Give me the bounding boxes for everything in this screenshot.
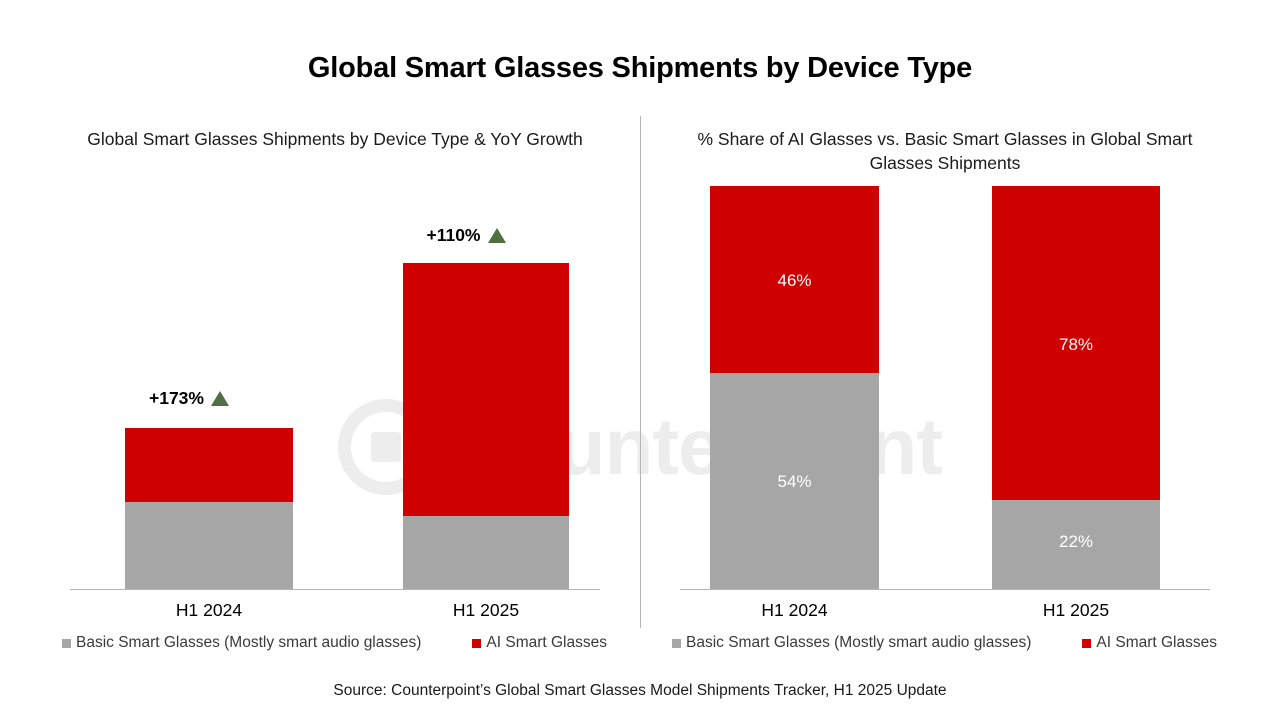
bar-segment-basic-smart-glasses[interactable] [125, 502, 293, 589]
legend-label-basic: Basic Smart Glasses (Mostly smart audio … [76, 634, 421, 652]
share-legend: Basic Smart Glasses (Mostly smart audio … [672, 634, 1217, 652]
bar-h1-2025-share[interactable]: 78% 22% [992, 186, 1160, 589]
chart-canvas: Counterpoint Global Smart Glasses Shipme… [0, 0, 1280, 720]
bar-segment-basic-smart-glasses[interactable]: 22% [992, 500, 1160, 589]
x-axis-label-h1-2025-share: H1 2025 [992, 600, 1160, 621]
bar-h1-2024-shipments[interactable] [125, 428, 293, 589]
legend-label-ai: AI Smart Glasses [1096, 634, 1217, 652]
left-panel-subtitle: Global Smart Glasses Shipments by Device… [70, 128, 600, 152]
bar-segment-ai-smart-glasses[interactable] [125, 428, 293, 502]
share-axis-line [680, 589, 1210, 590]
legend-item-ai-smart-glasses[interactable]: AI Smart Glasses [472, 634, 607, 652]
legend-item-basic-smart-glasses[interactable]: Basic Smart Glasses (Mostly smart audio … [62, 634, 421, 652]
growth-annotation-h1-2025: +110% [386, 225, 546, 246]
bar-h1-2025-shipments[interactable] [403, 263, 569, 589]
x-axis-label-h1-2025-shipments: H1 2025 [403, 600, 569, 621]
legend-item-basic-smart-glasses[interactable]: Basic Smart Glasses (Mostly smart audio … [672, 634, 1031, 652]
data-label-basic-h1-2025: 22% [992, 533, 1160, 550]
x-axis-label-h1-2024-share: H1 2024 [710, 600, 879, 621]
share-plot-area: 46% 54% 78% 22% [680, 176, 1210, 589]
legend-swatch-red-icon [1082, 639, 1091, 648]
growth-annotation-h1-2024: +173% [109, 388, 269, 409]
growth-up-triangle-icon [488, 228, 506, 243]
right-panel-subtitle: % Share of AI Glasses vs. Basic Smart Gl… [680, 128, 1210, 175]
bar-segment-basic-smart-glasses[interactable]: 54% [710, 373, 879, 589]
legend-item-ai-smart-glasses[interactable]: AI Smart Glasses [1082, 634, 1217, 652]
data-label-basic-h1-2024: 54% [710, 473, 879, 490]
data-label-ai-h1-2025: 78% [992, 336, 1160, 353]
legend-swatch-gray-icon [62, 639, 71, 648]
bar-segment-ai-smart-glasses[interactable]: 46% [710, 186, 879, 373]
growth-annotation-label: +110% [426, 225, 480, 245]
legend-label-basic: Basic Smart Glasses (Mostly smart audio … [686, 634, 1031, 652]
legend-swatch-gray-icon [672, 639, 681, 648]
growth-up-triangle-icon [211, 391, 229, 406]
bar-segment-ai-smart-glasses[interactable]: 78% [992, 186, 1160, 500]
x-axis-label-h1-2024-shipments: H1 2024 [125, 600, 293, 621]
page-title: Global Smart Glasses Shipments by Device… [0, 52, 1280, 85]
bar-h1-2024-share[interactable]: 46% 54% [710, 186, 879, 589]
bar-segment-basic-smart-glasses[interactable] [403, 516, 569, 589]
bar-segment-ai-smart-glasses[interactable] [403, 263, 569, 516]
data-label-ai-h1-2024: 46% [710, 272, 879, 289]
shipments-axis-line [70, 589, 600, 590]
legend-swatch-red-icon [472, 639, 481, 648]
source-note: Source: Counterpoint’s Global Smart Glas… [0, 682, 1280, 700]
shipments-legend: Basic Smart Glasses (Mostly smart audio … [62, 634, 607, 652]
growth-annotation-label: +173% [149, 388, 204, 408]
panel-divider [640, 116, 641, 628]
legend-label-ai: AI Smart Glasses [486, 634, 607, 652]
